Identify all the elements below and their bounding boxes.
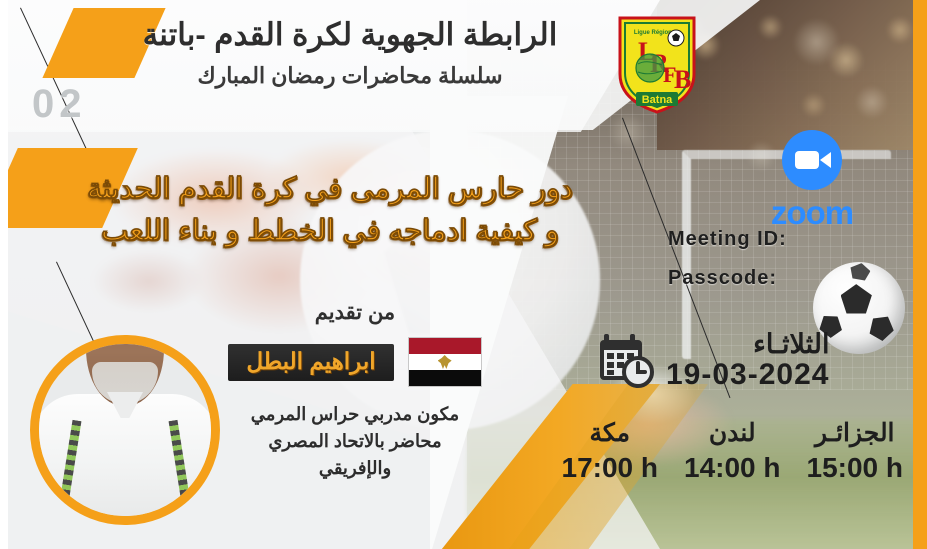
presenter-name: ابراهيم البطل: [246, 348, 375, 374]
zoom-wordmark: zoom: [742, 194, 882, 232]
presenter-name-row: ابراهيم البطل: [190, 337, 520, 387]
page-title: الرابطة الجهوية لكرة القدم -باتنة: [0, 16, 700, 55]
zoom-branding: zoom: [742, 130, 882, 232]
timezone-time: 15:00 h: [807, 452, 904, 484]
presenter-label: من تقديم: [190, 300, 520, 325]
timezone-city: الجزائـر: [807, 418, 904, 448]
egypt-flag-icon: [408, 337, 482, 387]
calendar-clock-icon: [598, 332, 660, 390]
event-date-value: 19-03-2024: [666, 358, 829, 391]
presenter-credential-line-3: والإفريقي: [190, 455, 520, 482]
issue-number: 02: [32, 82, 87, 127]
presenter-credential-line-2: محاضر بالاتحاد المصري: [190, 428, 520, 455]
zoom-camera-icon: [782, 130, 842, 190]
timezone-list: مكة 17:00 h لندن 14:00 h الجزائـر 15:00 …: [562, 418, 904, 484]
svg-text:Batna: Batna: [642, 94, 673, 106]
presenter-credentials: مكون مدربي حراس المرمي محاضر بالاتحاد ال…: [190, 401, 520, 482]
presenter-name-banner: ابراهيم البطل: [228, 344, 393, 381]
passcode-label: Passcode:: [668, 267, 787, 290]
presenter-block: من تقديم ابراهيم البطل مكون مدربي حراس ا…: [190, 300, 520, 482]
page-subtitle: سلسلة محاضرات رمضان المبارك: [0, 63, 700, 89]
event-poster: 02 الرابطة الجهوية لكرة القدم -باتنة سلس…: [0, 0, 927, 549]
svg-text:B: B: [674, 65, 691, 94]
event-date-block: الثلاثـاء 19-03-2024: [598, 330, 829, 391]
lrfb-batna-logo-icon: Ligue Régionale L R F B Batna: [614, 12, 700, 116]
timezone-item-mecca: مكة 17:00 h: [562, 418, 659, 484]
timezone-time: 14:00 h: [684, 452, 781, 484]
timezone-city: مكة: [562, 418, 659, 448]
timezone-city: لندن: [684, 418, 781, 448]
meeting-info: Meeting ID: Passcode:: [668, 228, 787, 306]
meeting-id-label: Meeting ID:: [668, 228, 787, 251]
timezone-time: 17:00 h: [562, 452, 659, 484]
lecture-title-line-1: دور حارس المرمى في كرة القدم الحديثة: [40, 168, 620, 210]
event-date-texts: الثلاثـاء 19-03-2024: [666, 330, 829, 391]
poster-header: الرابطة الجهوية لكرة القدم -باتنة سلسلة …: [0, 16, 700, 89]
event-day-name: الثلاثـاء: [666, 330, 829, 358]
timezone-item-algeria: الجزائـر 15:00 h: [807, 418, 904, 484]
timezone-item-london: لندن 14:00 h: [684, 418, 781, 484]
decor-orange-right-bar: [913, 0, 927, 549]
presenter-credential-line-1: مكون مدربي حراس المرمي: [190, 401, 520, 428]
lecture-title-line-2: و كيفية ادماجه في الخطط و بناء اللعب: [40, 210, 620, 252]
lecture-title: دور حارس المرمى في كرة القدم الحديثة و ك…: [40, 168, 620, 252]
